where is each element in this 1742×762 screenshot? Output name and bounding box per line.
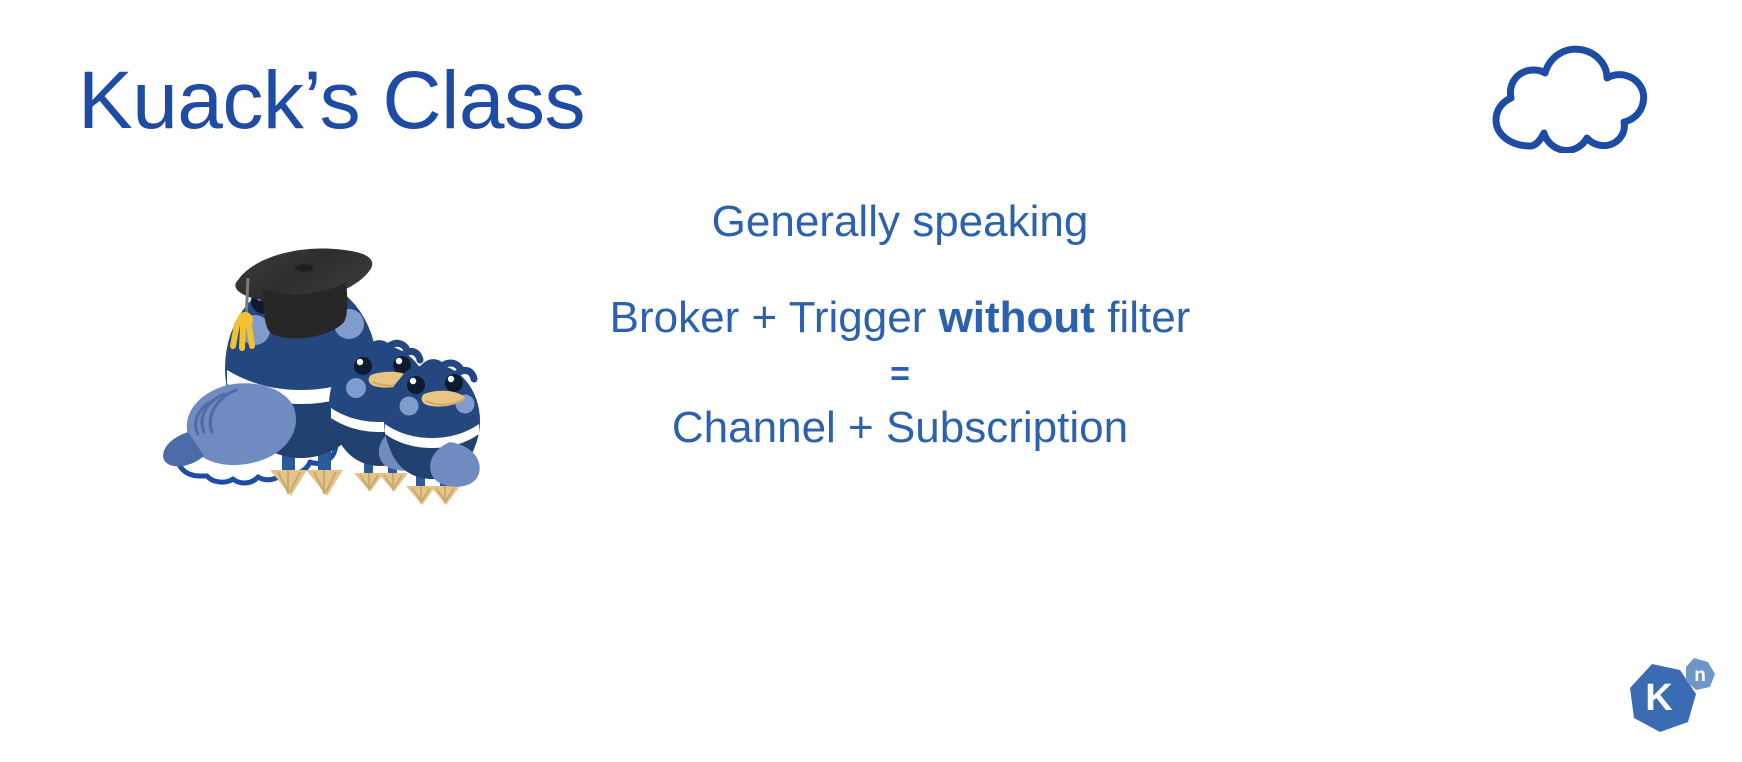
equals-sign: = — [520, 354, 1280, 394]
cloud-outline-icon — [1470, 28, 1660, 153]
without-emphasis: without — [939, 293, 1095, 342]
body-line-generally-speaking: Generally speaking — [520, 196, 1280, 248]
broker-trigger-suffix: filter — [1095, 293, 1190, 342]
logo-letter-k: K — [1645, 677, 1673, 719]
slide-canvas: Kuack’s Class — [0, 0, 1742, 762]
logo-letter-n: n — [1694, 665, 1706, 686]
three-birds-illustration — [160, 218, 510, 518]
body-text-block: Generally speaking Broker + Trigger with… — [520, 196, 1280, 454]
knative-logo: K n — [1618, 652, 1718, 742]
tassel-icon — [233, 312, 253, 348]
broker-trigger-prefix: Broker + Trigger — [610, 293, 939, 342]
page-title: Kuack’s Class — [78, 60, 585, 142]
body-line-broker-trigger: Broker + Trigger without filter — [520, 292, 1280, 344]
body-line-channel-subscription: Channel + Subscription — [520, 402, 1280, 454]
